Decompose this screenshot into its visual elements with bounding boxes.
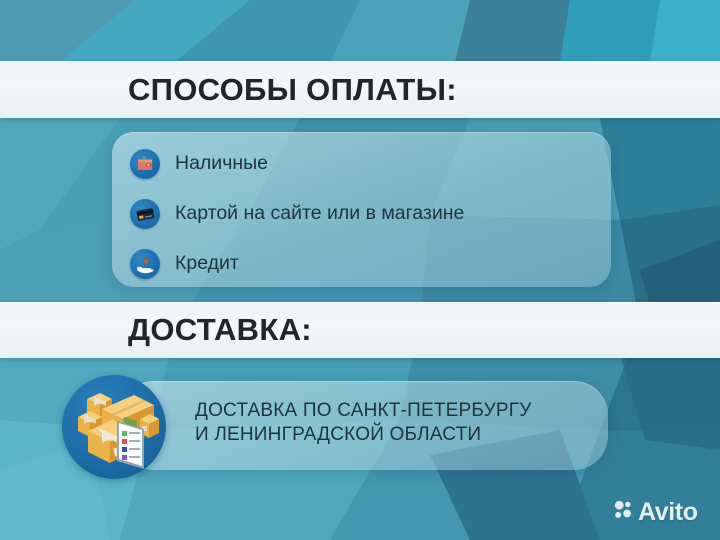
parcel-boxes-clipboard-icon — [62, 375, 166, 479]
delivery-description: ДОСТАВКА ПО САНКТ-ПЕТЕРБУРГУ И ЛЕНИНГРАД… — [195, 399, 532, 447]
hand-coin-icon — [130, 249, 160, 279]
payment-methods-list: Наличные Картой на сайте или в магазине — [130, 139, 600, 289]
payment-method-item: Картой на сайте или в магазине — [130, 189, 600, 239]
wallet-icon — [130, 149, 160, 179]
payment-method-label: Картой на сайте или в магазине — [175, 204, 464, 224]
band-hairline — [0, 302, 720, 303]
delivery-line: ДОСТАВКА ПО САНКТ-ПЕТЕРБУРГУ — [195, 399, 532, 423]
band-hairline — [0, 61, 720, 62]
delivery-title-band — [0, 302, 720, 358]
payment-title: СПОСОБЫ ОПЛАТЫ: — [128, 74, 457, 105]
avito-dots-icon — [612, 499, 633, 525]
payment-method-label: Наличные — [175, 154, 268, 174]
payment-method-item: Наличные — [130, 139, 600, 189]
delivery-title: ДОСТАВКА: — [128, 314, 312, 345]
credit-card-icon — [130, 199, 160, 229]
delivery-line: И ЛЕНИНГРАДСКОЙ ОБЛАСТИ — [195, 423, 532, 447]
avito-watermark: Avito — [612, 499, 698, 525]
payment-delivery-banner: СПОСОБЫ ОПЛАТЫ: Наличные — [0, 0, 720, 540]
payment-method-item: Кредит — [130, 239, 600, 289]
avito-wordmark: Avito — [638, 500, 698, 525]
payment-method-label: Кредит — [175, 254, 239, 274]
